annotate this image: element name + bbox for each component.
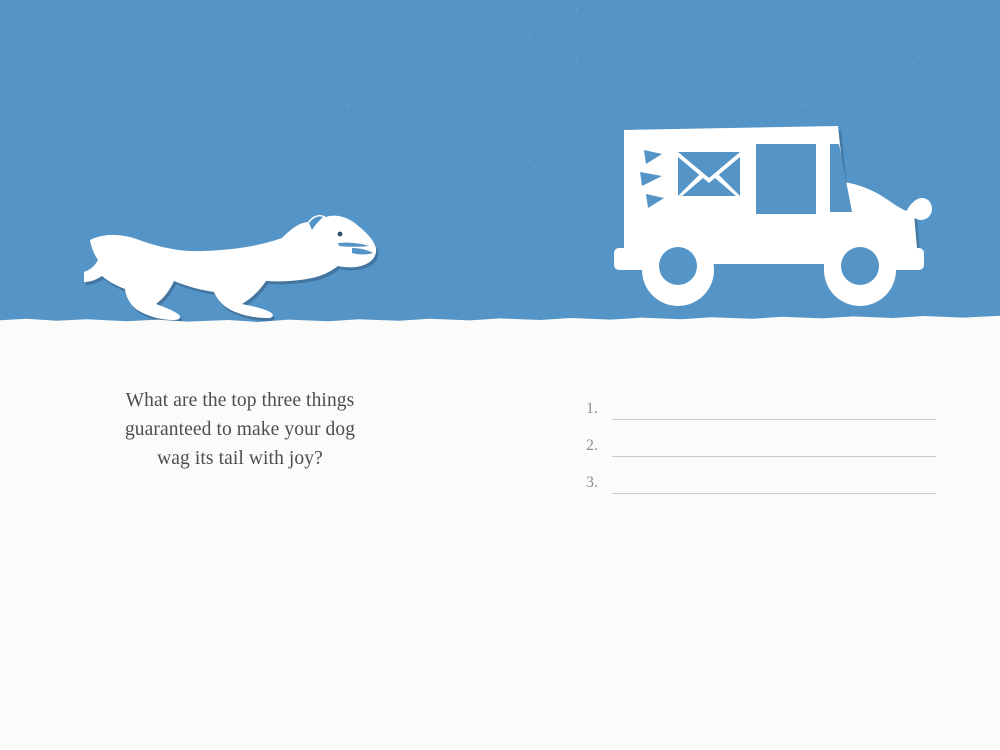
answer-row-3: 3.: [586, 457, 936, 494]
answer-list: 1. 2. 3.: [586, 383, 936, 494]
answer-number-1: 1.: [586, 401, 612, 420]
answer-write-in-line-2[interactable]: [612, 456, 936, 457]
prompt-line-2: guaranteed to make your dog: [60, 415, 420, 444]
answer-write-in-line-3[interactable]: [612, 493, 936, 494]
answer-number-3: 3.: [586, 475, 612, 494]
rear-wheel: [642, 234, 714, 306]
envelope-icon: [678, 152, 740, 196]
prompt-line-3: wag its tail with joy?: [60, 444, 420, 473]
mail-truck-illustration: [606, 112, 936, 327]
running-dog-illustration: [84, 210, 384, 330]
mail-truck-silhouette: [614, 126, 932, 306]
front-wheel: [824, 234, 896, 306]
answer-row-2: 2.: [586, 420, 936, 457]
answer-write-in-line-1[interactable]: [612, 419, 936, 420]
answer-number-2: 2.: [586, 438, 612, 457]
side-window: [756, 144, 816, 214]
prompt-question: What are the top three things guaranteed…: [60, 386, 420, 473]
journal-page: What are the top three things guaranteed…: [0, 0, 1000, 750]
dog-silhouette: [84, 215, 378, 323]
answer-row-1: 1.: [586, 383, 936, 420]
prompt-line-1: What are the top three things: [60, 386, 420, 415]
